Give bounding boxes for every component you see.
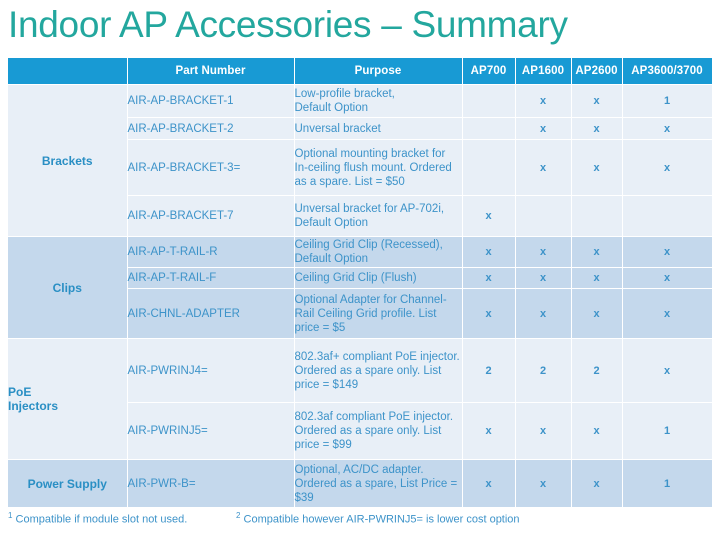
table-row: PoEInjectors AIR-PWRINJ4= 802.3af+ compl… — [8, 339, 712, 403]
compat-cell-ap2600: x — [571, 118, 622, 140]
compat-cell-ap700 — [462, 85, 515, 118]
compat-cell-ap2600: x — [571, 460, 622, 508]
table-header-row: Part Number Purpose AP700 AP1600 AP2600 … — [8, 58, 712, 85]
compat-cell-ap2600: x — [571, 140, 622, 196]
column-header-part-number: Part Number — [127, 58, 294, 85]
purpose-cell: Ceiling Grid Clip (Recessed), Default Op… — [294, 237, 462, 268]
column-header-ap700: AP700 — [462, 58, 515, 85]
purpose-cell: Optional Adapter for Channel-Rail Ceilin… — [294, 289, 462, 339]
compat-cell-ap3600: x — [622, 118, 712, 140]
purpose-cell: Unversal bracket for AP-702i, Default Op… — [294, 196, 462, 237]
compat-cell-ap700 — [462, 140, 515, 196]
table-row: Power Supply AIR-PWR-B= Optional, AC/DC … — [8, 460, 712, 508]
purpose-cell: Ceiling Grid Clip (Flush) — [294, 268, 462, 289]
footnote-2-marker: 2 — [236, 511, 240, 520]
compat-cell-ap700: x — [462, 237, 515, 268]
footnote-1: 1 Compatible if module slot not used. — [8, 511, 236, 526]
compat-cell-ap3600: x — [622, 289, 712, 339]
group-label-power-supply: Power Supply — [8, 460, 127, 508]
part-number-cell: AIR-AP-BRACKET-3= — [127, 140, 294, 196]
compat-cell-ap1600: x — [515, 403, 571, 460]
compat-cell-ap700: 2 — [462, 339, 515, 403]
group-label-poe-injectors: PoEInjectors — [8, 339, 127, 460]
footnote-2-text: Compatible however AIR-PWRINJ5= is lower… — [244, 514, 520, 526]
purpose-cell: Optional, AC/DC adapter. Ordered as a sp… — [294, 460, 462, 508]
page-title: Indoor AP Accessories – Summary — [8, 2, 568, 48]
purpose-cell: 802.3af compliant PoE injector. Ordered … — [294, 403, 462, 460]
column-header-ap2600: AP2600 — [571, 58, 622, 85]
footnote-1-text: Compatible if module slot not used. — [16, 514, 188, 526]
group-label-clips: Clips — [8, 237, 127, 339]
group-label-poe-part-2: Injectors — [8, 399, 58, 413]
compat-cell-ap700: x — [462, 289, 515, 339]
compat-cell-ap1600: x — [515, 289, 571, 339]
compat-cell-ap3600: 1 — [622, 85, 712, 118]
column-header-purpose: Purpose — [294, 58, 462, 85]
compat-cell-ap1600 — [515, 196, 571, 237]
purpose-cell: Unversal bracket — [294, 118, 462, 140]
footnote-1-marker: 1 — [8, 511, 12, 520]
compat-cell-ap1600: 2 — [515, 339, 571, 403]
group-label-poe-part-1: PoE — [8, 385, 31, 399]
compat-cell-ap1600: x — [515, 118, 571, 140]
compat-cell-ap1600: x — [515, 85, 571, 118]
compat-cell-ap2600: x — [571, 85, 622, 118]
footnote-2: 2 Compatible however AIR-PWRINJ5= is low… — [236, 511, 520, 526]
compat-cell-ap700: x — [462, 268, 515, 289]
part-number-cell: AIR-AP-BRACKET-7 — [127, 196, 294, 237]
compat-cell-ap2600: x — [571, 268, 622, 289]
compat-cell-ap1600: x — [515, 140, 571, 196]
compat-cell-ap700: x — [462, 403, 515, 460]
part-number-cell: AIR-PWR-B= — [127, 460, 294, 508]
table-body: Brackets AIR-AP-BRACKET-1 Low-profile br… — [8, 85, 712, 508]
purpose-text-secondary: Default Option — [295, 102, 369, 114]
purpose-cell: 802.3af+ compliant PoE injector. Ordered… — [294, 339, 462, 403]
compat-cell-ap1600: x — [515, 268, 571, 289]
part-number-cell: AIR-AP-BRACKET-1 — [127, 85, 294, 118]
purpose-text-primary: Low-profile bracket, — [295, 88, 395, 100]
purpose-cell: Optional mounting bracket for In-ceiling… — [294, 140, 462, 196]
compat-cell-ap3600 — [622, 196, 712, 237]
compat-cell-ap3600: x — [622, 339, 712, 403]
compat-cell-ap700 — [462, 118, 515, 140]
table-row: Clips AIR-AP-T-RAIL-R Ceiling Grid Clip … — [8, 237, 712, 268]
part-number-cell: AIR-AP-BRACKET-2 — [127, 118, 294, 140]
part-number-cell: AIR-PWRINJ4= — [127, 339, 294, 403]
compat-cell-ap2600: x — [571, 403, 622, 460]
compat-cell-ap700: x — [462, 460, 515, 508]
part-number-cell: AIR-CHNL-ADAPTER — [127, 289, 294, 339]
purpose-cell: Low-profile bracket,Default Option — [294, 85, 462, 118]
compat-cell-ap3600: x — [622, 268, 712, 289]
table-row: Brackets AIR-AP-BRACKET-1 Low-profile br… — [8, 85, 712, 118]
compat-cell-ap2600 — [571, 196, 622, 237]
compat-cell-ap1600: x — [515, 460, 571, 508]
compat-cell-ap3600: 1 — [622, 403, 712, 460]
compat-cell-ap3600: x — [622, 140, 712, 196]
compat-cell-ap700: x — [462, 196, 515, 237]
table-header: Part Number Purpose AP700 AP1600 AP2600 … — [8, 58, 712, 85]
accessories-summary-table: Part Number Purpose AP700 AP1600 AP2600 … — [8, 58, 713, 508]
compat-cell-ap1600: x — [515, 237, 571, 268]
column-header-ap3600-3700: AP3600/3700 — [622, 58, 712, 85]
compat-cell-ap3600: 1 — [622, 460, 712, 508]
column-header-ap1600: AP1600 — [515, 58, 571, 85]
group-label-brackets: Brackets — [8, 85, 127, 237]
part-number-cell: AIR-PWRINJ5= — [127, 403, 294, 460]
part-number-cell: AIR-AP-T-RAIL-R — [127, 237, 294, 268]
compat-cell-ap2600: x — [571, 237, 622, 268]
footnotes: 1 Compatible if module slot not used.2 C… — [8, 511, 712, 526]
compat-cell-ap2600: x — [571, 289, 622, 339]
part-number-cell: AIR-AP-T-RAIL-F — [127, 268, 294, 289]
compat-cell-ap2600: 2 — [571, 339, 622, 403]
column-header-category — [8, 58, 127, 85]
compat-cell-ap3600: x — [622, 237, 712, 268]
